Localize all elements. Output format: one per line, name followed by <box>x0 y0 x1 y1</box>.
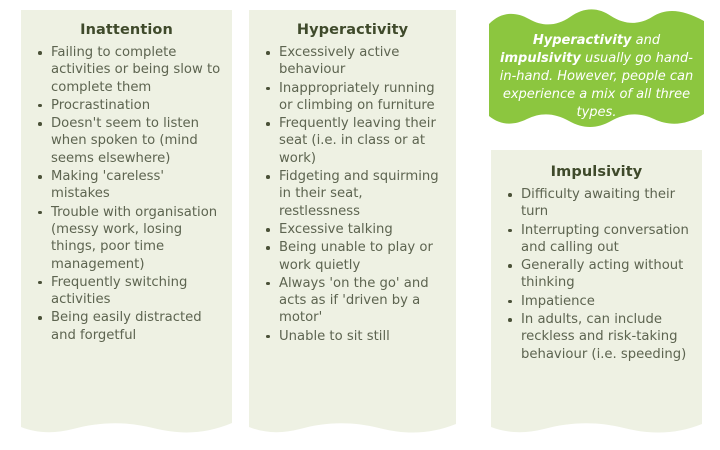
list-item: Doesn't seem to listen when spoken to (m… <box>37 115 222 167</box>
card-inattention-list: Failing to complete activities or being … <box>21 44 232 344</box>
list-item: Excessively active behaviour <box>265 44 446 79</box>
list-item: Interrupting conversation and calling ou… <box>507 222 692 257</box>
card-impulsivity-body: Impulsivity Difficulty awaiting their tu… <box>491 150 702 363</box>
card-hyperactivity: Hyperactivity Excessively active behavio… <box>249 10 456 419</box>
card-inattention-body: Inattention Failing to complete activiti… <box>21 10 232 344</box>
callout-conjunction: and <box>632 33 661 48</box>
card-hyperactivity-title: Hyperactivity <box>249 10 456 38</box>
card-inattention: Inattention Failing to complete activiti… <box>21 10 232 419</box>
card-impulsivity-torn-edge <box>491 418 702 436</box>
list-item: Difficulty awaiting their turn <box>507 186 692 221</box>
list-item: Frequently switching activities <box>37 274 222 309</box>
card-inattention-title: Inattention <box>21 10 232 38</box>
list-item: Fidgeting and squirming in their seat, r… <box>265 168 446 220</box>
callout-text: Hyperactivity and impulsivity usually go… <box>489 32 704 122</box>
list-item: Unable to sit still <box>265 328 446 345</box>
list-item: Failing to complete activities or being … <box>37 44 222 96</box>
list-item: Impatience <box>507 293 692 310</box>
card-hyperactivity-list: Excessively active behaviour Inappropria… <box>249 44 456 345</box>
card-impulsivity: Impulsivity Difficulty awaiting their tu… <box>491 150 702 419</box>
list-item: Making 'careless' mistakes <box>37 168 222 203</box>
list-item: Being easily distracted and forgetful <box>37 309 222 344</box>
list-item: Being unable to play or work quietly <box>265 239 446 274</box>
list-item: In adults, can include reckless and risk… <box>507 311 692 363</box>
card-hyperactivity-body: Hyperactivity Excessively active behavio… <box>249 10 456 345</box>
card-impulsivity-title: Impulsivity <box>491 150 702 180</box>
list-item: Generally acting without thinking <box>507 257 692 292</box>
list-item: Excessive talking <box>265 221 446 238</box>
list-item: Always 'on the go' and acts as if 'drive… <box>265 275 446 327</box>
list-item: Frequently leaving their seat (i.e. in c… <box>265 115 446 167</box>
adhd-symptoms-infographic: Inattention Failing to complete activiti… <box>0 0 720 450</box>
callout-emphasis-impulsivity: impulsivity <box>500 51 581 66</box>
list-item: Inappropriately running or climbing on f… <box>265 80 446 115</box>
card-inattention-torn-edge <box>21 418 232 436</box>
card-hyperactivity-torn-edge <box>249 418 456 436</box>
list-item: Trouble with organisation (messy work, l… <box>37 204 222 273</box>
list-item: Procrastination <box>37 97 222 114</box>
callout-emphasis-hyperactivity: Hyperactivity <box>533 33 632 48</box>
card-impulsivity-list: Difficulty awaiting their turn Interrupt… <box>491 186 702 363</box>
callout-hyperactivity-impulsivity: Hyperactivity and impulsivity usually go… <box>489 8 704 130</box>
